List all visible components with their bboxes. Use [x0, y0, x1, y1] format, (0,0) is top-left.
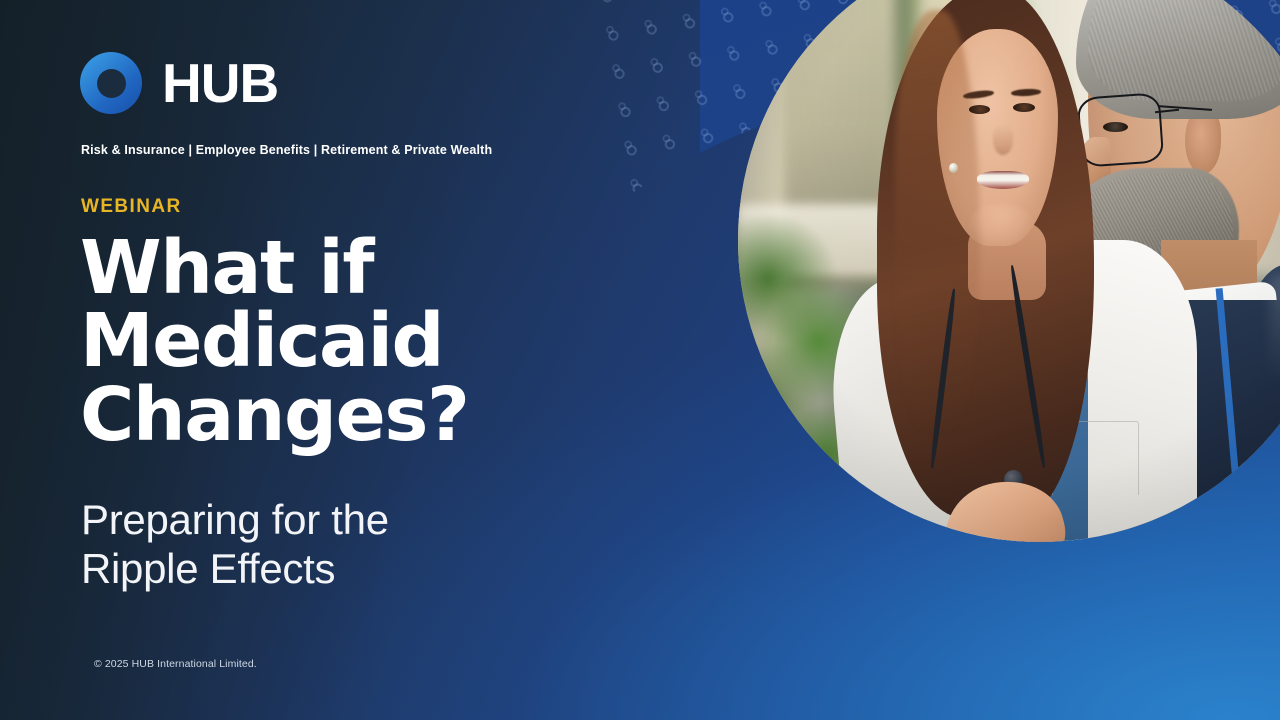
page-subtitle: Preparing for the Ripple Effects — [81, 496, 541, 593]
page-subtitle-line-2: Ripple Effects — [81, 545, 541, 594]
page-title-line-3: Changes? — [80, 379, 550, 452]
page-title-line-2: Medicaid — [80, 305, 550, 378]
hub-wordmark: HUB — [162, 56, 278, 111]
hub-ring-icon — [80, 52, 142, 114]
page-title: What if Medicaid Changes? — [80, 232, 550, 452]
hero-photo — [738, 0, 1280, 542]
page-subtitle-line-1: Preparing for the — [81, 496, 541, 545]
hero-photo-scene — [738, 0, 1280, 542]
page-title-line-1: What if — [80, 232, 550, 305]
eyebrow-label: WEBINAR — [81, 196, 182, 218]
slide-content: HUB Risk & Insurance | Employee Benefits… — [80, 0, 700, 720]
hub-ring-icon-hole — [97, 69, 126, 98]
brand-tagline: Risk & Insurance | Employee Benefits | R… — [81, 143, 492, 157]
photo-vignette — [738, 0, 1280, 542]
copyright-notice: © 2025 HUB International Limited. — [94, 658, 257, 670]
webinar-title-slide: HUB Risk & Insurance | Employee Benefits… — [0, 0, 1280, 720]
hub-logo: HUB — [80, 52, 278, 114]
